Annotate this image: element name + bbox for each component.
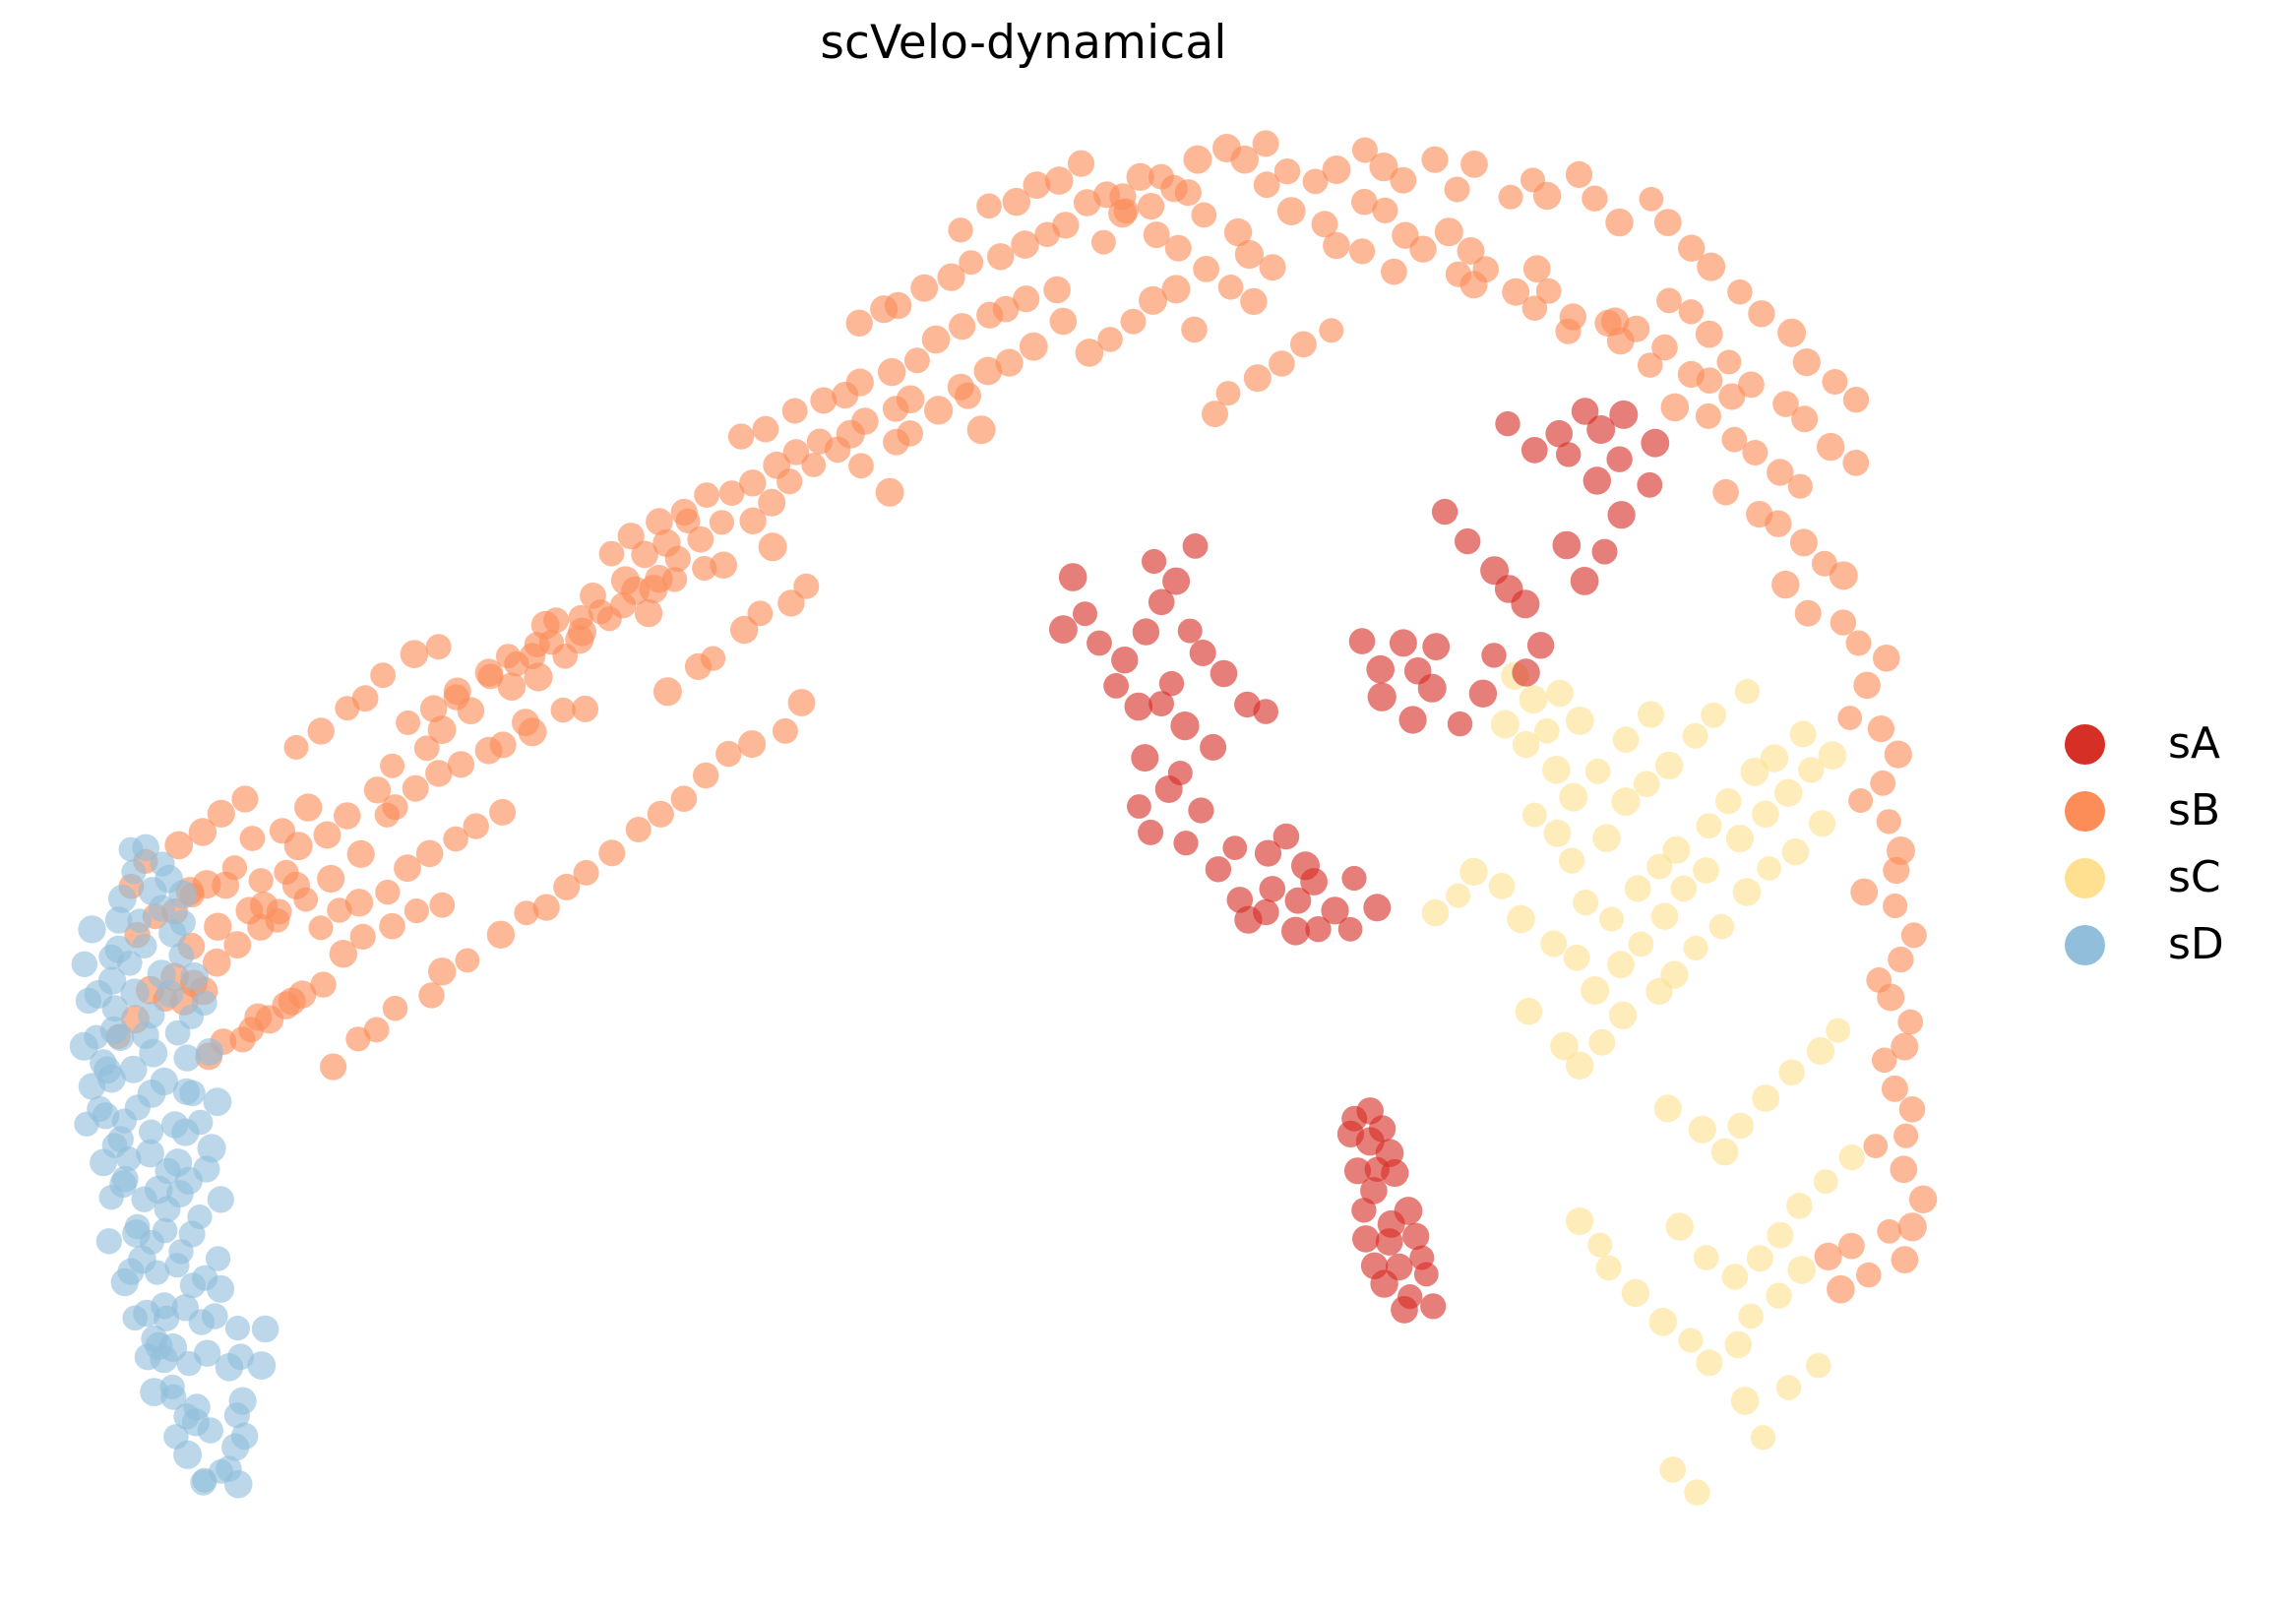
legend: sA sB sC sD xyxy=(2065,711,2296,978)
legend-label-sD: sD xyxy=(2168,923,2224,966)
legend-item-sB[interactable]: sB xyxy=(2065,777,2296,844)
scatter-plot-figure: scVelo-dynamical sA sB sC sD xyxy=(0,0,2296,1607)
series-sA-cluster xyxy=(1337,1097,1446,1324)
legend-marker-sA xyxy=(2065,724,2105,765)
legend-item-sC[interactable]: sC xyxy=(2065,844,2296,911)
legend-marker-sB xyxy=(2065,791,2105,832)
scatter-points-layer xyxy=(70,130,1938,1505)
legend-label-sB: sB xyxy=(2168,789,2220,833)
legend-item-sA[interactable]: sA xyxy=(2065,711,2296,777)
series-sC xyxy=(1422,662,1865,1506)
legend-label-sA: sA xyxy=(2168,722,2220,766)
legend-label-sC: sC xyxy=(2168,856,2221,899)
legend-marker-sC xyxy=(2065,858,2105,898)
series-sD xyxy=(70,834,279,1499)
scatter-canvas xyxy=(0,0,2296,1607)
legend-marker-sD xyxy=(2065,925,2105,965)
legend-item-sD[interactable]: sD xyxy=(2065,911,2296,978)
